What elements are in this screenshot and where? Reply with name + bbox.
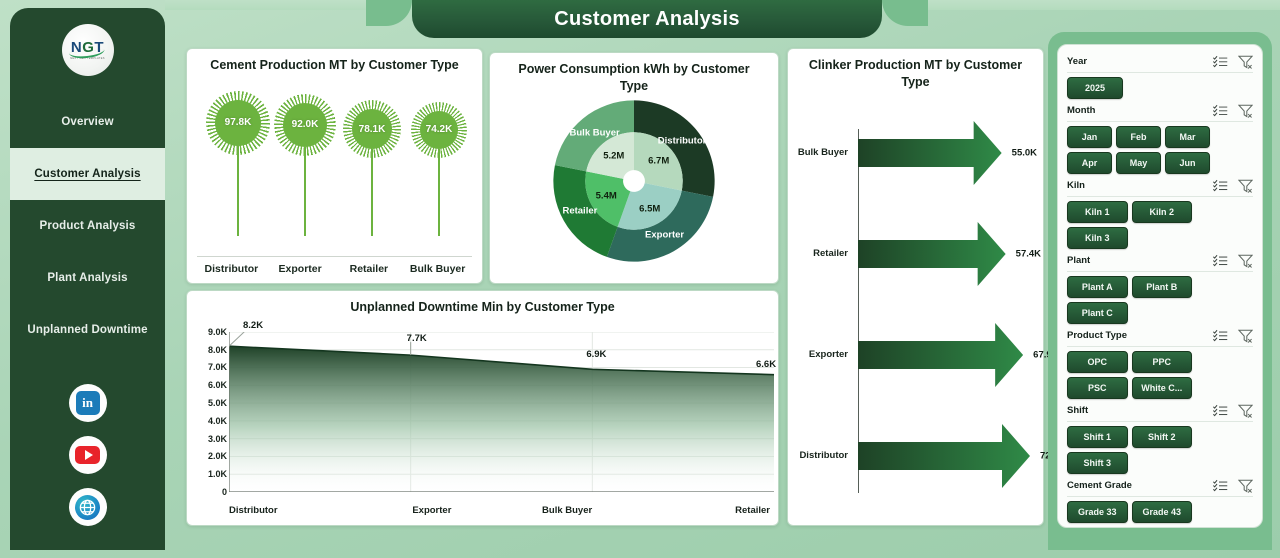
filter-chip-feb[interactable]: Feb (1116, 126, 1161, 148)
cement-production-card: Cement Production MT by Customer Type 97… (186, 48, 483, 284)
donut-svg (550, 97, 718, 265)
cement-stem-line (371, 149, 374, 236)
slicer-divider (1067, 271, 1253, 272)
sidebar-item-label: Product Analysis (40, 220, 136, 232)
clear-filter-icon[interactable] (1238, 104, 1253, 118)
page-header: Customer Analysis (412, 0, 882, 38)
cement-stem-2[interactable]: 78.1K (339, 100, 405, 236)
slicer-title: Plant (1067, 255, 1213, 266)
chart-title: Clinker Production MT by Customer Type (788, 49, 1043, 91)
slicer-header: Shift (1067, 402, 1253, 419)
multi-select-icon[interactable] (1213, 479, 1228, 492)
cement-value-label: 78.1K (359, 124, 386, 135)
filter-chip-plant-a[interactable]: Plant A (1067, 276, 1128, 298)
clinker-category-label: Distributor (788, 450, 854, 461)
filter-chip-kiln-1[interactable]: Kiln 1 (1067, 201, 1128, 223)
clinker-arrow-wrap: 67.9K (854, 323, 1043, 387)
page-title: Customer Analysis (554, 8, 740, 31)
youtube-icon[interactable] (69, 436, 107, 474)
clinker-production-card: Clinker Production MT by Customer Type B… (787, 48, 1044, 526)
multi-select-icon[interactable] (1213, 404, 1228, 417)
slicer-title: Product Type (1067, 330, 1213, 341)
sidebar-item-customer-analysis[interactable]: Customer Analysis (10, 148, 165, 200)
filter-chip-jun[interactable]: Jun (1165, 152, 1210, 174)
clear-filter-icon[interactable] (1238, 179, 1253, 193)
clinker-arrow-shape (858, 323, 1023, 387)
slicer-title: Kiln (1067, 180, 1213, 191)
sidebar-item-overview[interactable]: Overview (10, 96, 165, 148)
sidebar-item-product-analysis[interactable]: Product Analysis (10, 200, 165, 252)
cement-cat-2: Retailer (335, 263, 404, 275)
sidebar-item-unplanned-downtime[interactable]: Unplanned Downtime (10, 304, 165, 356)
filter-chip-opc[interactable]: OPC (1067, 351, 1128, 373)
slicer-chips: Grade 33Grade 43Grade 53 (1067, 501, 1253, 528)
slicer-icons (1213, 329, 1253, 343)
chart-title: Power Consumption kWh by Customer Type (490, 53, 778, 95)
slicer-icons (1213, 254, 1253, 268)
cement-stem-0[interactable]: 97.8K (205, 100, 271, 236)
cement-category-labels: Distributor Exporter Retailer Bulk Buyer (197, 263, 472, 275)
cement-cat-0: Distributor (197, 263, 266, 275)
downtime-cat-0: Distributor (229, 505, 364, 516)
filter-chip-grade-53[interactable]: Grade 53 (1067, 527, 1128, 528)
downtime-value-label-1: 7.7K (407, 333, 427, 344)
downtime-x-axis: Distributor Exporter Bulk Buyer Retailer (229, 505, 770, 516)
clinker-category-label: Exporter (788, 349, 854, 360)
filter-chip-kiln-2[interactable]: Kiln 2 (1132, 201, 1193, 223)
multi-select-icon[interactable] (1213, 55, 1228, 68)
slicer-divider (1067, 496, 1253, 497)
cement-burst-marker: 78.1K (352, 109, 392, 149)
sidebar-item-label: Overview (61, 116, 113, 128)
clear-filter-icon[interactable] (1238, 404, 1253, 418)
filter-chip-apr[interactable]: Apr (1067, 152, 1112, 174)
power-consumption-chart[interactable]: Distributor6.7MExporter6.5MRetailer5.4MB… (490, 95, 778, 273)
cement-burst-marker: 92.0K (283, 103, 327, 147)
downtime-y-tick: 9.0K (208, 327, 227, 337)
clinker-arrow-wrap: 72.0K (854, 424, 1043, 488)
slicer-product-type: Product TypeOPCPPCPSCWhite C... (1067, 327, 1253, 399)
cement-cat-3: Bulk Buyer (403, 263, 472, 275)
clear-filter-icon[interactable] (1238, 479, 1253, 493)
filter-chip-kiln-3[interactable]: Kiln 3 (1067, 227, 1128, 249)
filter-chip-white-c[interactable]: White C... (1132, 377, 1193, 399)
website-icon[interactable] (69, 488, 107, 526)
cement-burst-marker: 97.8K (215, 100, 261, 146)
slicer-chips: JanFebMarAprMayJun (1067, 126, 1253, 174)
clear-filter-icon[interactable] (1238, 55, 1253, 69)
slicer-plant: PlantPlant APlant BPlant C (1067, 252, 1253, 324)
clinker-row-1[interactable]: Retailer57.4K (788, 222, 1043, 286)
downtime-y-tick: 1.0K (208, 469, 227, 479)
cement-cat-1: Exporter (266, 263, 335, 275)
social-links: in (69, 384, 107, 526)
slicer-divider (1067, 346, 1253, 347)
slicer-divider (1067, 196, 1253, 197)
clinker-arrow-wrap: 55.0K (854, 121, 1043, 185)
downtime-y-tick: 4.0K (208, 416, 227, 426)
clinker-category-label: Bulk Buyer (788, 147, 854, 158)
slicer-shift: ShiftShift 1Shift 2Shift 3 (1067, 402, 1253, 474)
downtime-y-axis: 9.0K8.0K7.0K6.0K5.0K4.0K3.0K2.0K1.0K0 (193, 332, 227, 490)
unplanned-downtime-card: Unplanned Downtime Min by Customer Type … (186, 290, 779, 526)
slicer-cement-grade: Cement GradeGrade 33Grade 43Grade 53 (1067, 477, 1253, 528)
slicer-divider (1067, 421, 1253, 422)
downtime-area (229, 346, 774, 492)
downtime-value-label-3: 6.6K (756, 359, 776, 370)
filter-chip-jan[interactable]: Jan (1067, 126, 1112, 148)
multi-select-icon[interactable] (1213, 329, 1228, 342)
slicer-icons (1213, 404, 1253, 418)
slicer-header: Product Type (1067, 327, 1253, 344)
clinker-value-label: 57.4K (1016, 248, 1041, 259)
sidebar-item-plant-analysis[interactable]: Plant Analysis (10, 252, 165, 304)
downtime-y-tick: 0 (222, 487, 227, 497)
cement-stem-3[interactable]: 74.2K (406, 100, 472, 236)
slicer-header: Month (1067, 102, 1253, 119)
sidebar-item-label: Customer Analysis (34, 168, 140, 180)
multi-select-icon[interactable] (1213, 254, 1228, 267)
downtime-area-svg (229, 332, 774, 492)
cement-value-label: 92.0K (292, 119, 319, 130)
sidebar: NGT NEXT GEN TEMPLATES Overview Customer… (10, 8, 165, 550)
sidebar-item-label: Plant Analysis (47, 272, 127, 284)
cement-value-label: 97.8K (225, 117, 252, 128)
cement-stem-1[interactable]: 92.0K (272, 100, 338, 236)
linkedin-icon[interactable]: in (69, 384, 107, 422)
downtime-y-tick: 5.0K (208, 398, 227, 408)
header-wing-right (882, 0, 928, 26)
downtime-value-label-2: 6.9K (586, 349, 606, 360)
downtime-cat-2: Bulk Buyer (500, 505, 635, 516)
unplanned-downtime-chart[interactable]: 9.0K8.0K7.0K6.0K5.0K4.0K3.0K2.0K1.0K0 Di… (193, 318, 770, 518)
sidebar-nav: Overview Customer Analysis Product Analy… (10, 96, 165, 356)
slicer-icons (1213, 55, 1253, 69)
cement-stem-line (237, 146, 240, 236)
filter-chip-2025[interactable]: 2025 (1067, 77, 1123, 99)
slicer-header: Kiln (1067, 177, 1253, 194)
slicer-title: Cement Grade (1067, 480, 1213, 491)
clinker-production-chart[interactable]: Bulk Buyer55.0KRetailer57.4KExporter67.9… (788, 97, 1043, 505)
slicer-chips: 2025 (1067, 77, 1253, 99)
downtime-y-tick: 8.0K (208, 345, 227, 355)
app-logo: NGT NEXT GEN TEMPLATES (62, 24, 114, 76)
cement-baseline (197, 256, 472, 257)
slicer-title: Year (1067, 56, 1213, 67)
slicer-icons (1213, 479, 1253, 493)
clinker-category-label: Retailer (788, 248, 854, 259)
filter-chip-psc[interactable]: PSC (1067, 377, 1128, 399)
slicer-year: Year2025 (1067, 53, 1253, 99)
slicer-chips: Plant APlant BPlant C (1067, 276, 1253, 324)
slicer-chips: Shift 1Shift 2Shift 3 (1067, 426, 1253, 474)
slicer-title: Month (1067, 105, 1213, 116)
chart-title: Cement Production MT by Customer Type (187, 49, 482, 74)
clinker-row-3[interactable]: Distributor72.0K (788, 424, 1043, 488)
filter-chip-shift-3[interactable]: Shift 3 (1067, 452, 1128, 474)
filter-chip-plant-b[interactable]: Plant B (1132, 276, 1193, 298)
slicer-header: Cement Grade (1067, 477, 1253, 494)
filter-chip-shift-2[interactable]: Shift 2 (1132, 426, 1193, 448)
clinker-row-2[interactable]: Exporter67.9K (788, 323, 1043, 387)
downtime-y-tick: 7.0K (208, 362, 227, 372)
filter-chip-ppc[interactable]: PPC (1132, 351, 1193, 373)
cement-burst-marker: 74.2K (420, 111, 458, 149)
multi-select-icon[interactable] (1213, 179, 1228, 192)
filter-chip-mar[interactable]: Mar (1165, 126, 1210, 148)
downtime-y-tick: 2.0K (208, 451, 227, 461)
filter-panel: Year2025MonthJanFebMarAprMayJunKilnKiln … (1057, 44, 1263, 528)
multi-select-icon[interactable] (1213, 104, 1228, 117)
slicer-title: Shift (1067, 405, 1213, 416)
slicer-header: Plant (1067, 252, 1253, 269)
slicer-chips: OPCPPCPSCWhite C... (1067, 351, 1253, 399)
header-wing-left (366, 0, 412, 26)
clear-filter-icon[interactable] (1238, 329, 1253, 343)
slicer-divider (1067, 72, 1253, 73)
slicer-icons (1213, 179, 1253, 193)
clinker-arrow-shape (858, 222, 1006, 286)
clinker-arrow-shape (858, 121, 1002, 185)
slicer-divider (1067, 121, 1253, 122)
slicer-header: Year (1067, 53, 1253, 70)
slicer-chips: Kiln 1Kiln 2Kiln 3 (1067, 201, 1253, 249)
clear-filter-icon[interactable] (1238, 254, 1253, 268)
downtime-cat-3: Retailer (635, 505, 770, 516)
cement-production-chart[interactable]: 97.8K92.0K78.1K74.2K (197, 78, 472, 236)
filter-chip-may[interactable]: May (1116, 152, 1161, 174)
cement-stem-line (438, 149, 441, 236)
filter-chip-shift-1[interactable]: Shift 1 (1067, 426, 1128, 448)
slicer-icons (1213, 104, 1253, 118)
cement-stem-line (304, 147, 307, 236)
filter-chip-grade-43[interactable]: Grade 43 (1132, 501, 1193, 523)
clinker-row-0[interactable]: Bulk Buyer55.0K (788, 121, 1043, 185)
downtime-y-tick: 3.0K (208, 434, 227, 444)
downtime-cat-1: Exporter (364, 505, 499, 516)
slicer-kiln: KilnKiln 1Kiln 2Kiln 3 (1067, 177, 1253, 249)
sidebar-item-label: Unplanned Downtime (27, 324, 147, 336)
downtime-y-tick: 6.0K (208, 380, 227, 390)
downtime-leader-line (229, 332, 247, 346)
slicer-month: MonthJanFebMarAprMayJun (1067, 102, 1253, 174)
clinker-arrow-wrap: 57.4K (854, 222, 1043, 286)
clinker-arrow-shape (858, 424, 1030, 488)
chart-title: Unplanned Downtime Min by Customer Type (187, 291, 778, 316)
downtime-value-label-0: 8.2K (243, 320, 263, 331)
filter-chip-plant-c[interactable]: Plant C (1067, 302, 1128, 324)
power-consumption-card: Power Consumption kWh by Customer Type D… (489, 52, 779, 284)
cement-value-label: 74.2K (426, 124, 453, 135)
clinker-value-label: 55.0K (1012, 147, 1037, 158)
filter-chip-grade-33[interactable]: Grade 33 (1067, 501, 1128, 523)
